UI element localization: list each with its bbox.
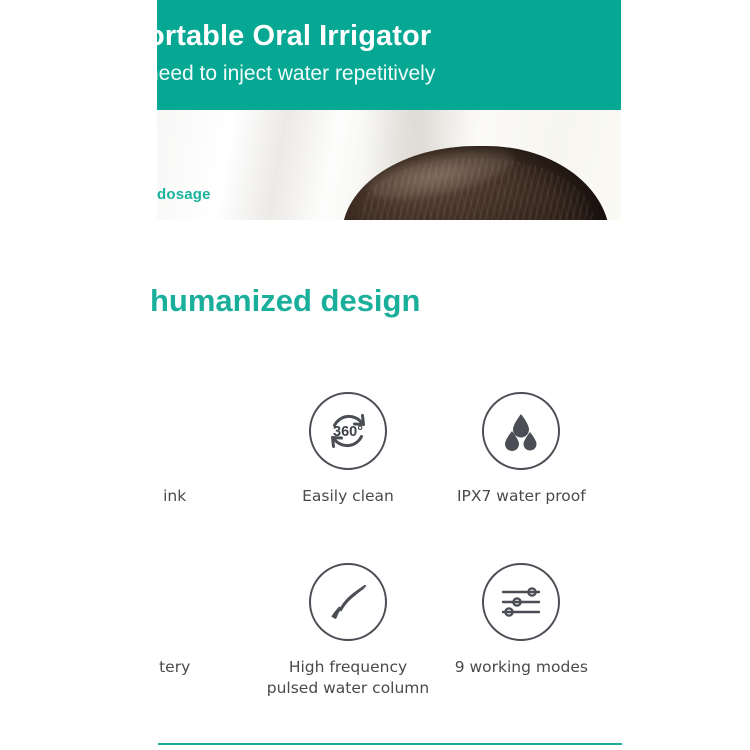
sliders-icon bbox=[482, 563, 560, 641]
feature-label-working-modes: 9 working modes bbox=[455, 657, 588, 678]
feature-label-pulsed-water: High frequency pulsed water column bbox=[261, 657, 434, 699]
feature-row-1: ink 360° Easily clean bbox=[88, 392, 608, 507]
rotate-360-icon-text: 360° bbox=[333, 424, 363, 440]
bottom-divider bbox=[158, 743, 622, 745]
feature-item-working-modes: 9 working modes bbox=[435, 563, 608, 699]
section-heading: humanized design bbox=[150, 283, 420, 319]
hero-title: ortable Oral Irrigator bbox=[157, 20, 621, 53]
feature-row-gap bbox=[88, 507, 608, 563]
feature-item-easily-clean: 360° Easily clean bbox=[261, 392, 434, 507]
hero-photo: dosage bbox=[157, 110, 621, 220]
feature-label-waterproof: IPX7 water proof bbox=[457, 486, 586, 507]
feature-item-battery: tery bbox=[88, 563, 261, 699]
photo-caption: dosage bbox=[157, 186, 211, 203]
hero-banner: ortable Oral Irrigator need to inject wa… bbox=[157, 0, 621, 110]
feature-item-water-tank: ink bbox=[88, 392, 261, 507]
feature-item-waterproof: IPX7 water proof bbox=[435, 392, 608, 507]
feature-label-water-tank: ink bbox=[163, 486, 186, 507]
water-drops-icon bbox=[482, 392, 560, 470]
feature-grid: ink 360° Easily clean bbox=[88, 392, 608, 699]
rotate-360-icon: 360° bbox=[309, 392, 387, 470]
water-jet-nozzle-icon bbox=[309, 563, 387, 641]
person-head-graphic bbox=[342, 140, 621, 220]
feature-item-pulsed-water: High frequency pulsed water column bbox=[261, 563, 434, 699]
feature-label-easily-clean: Easily clean bbox=[302, 486, 394, 507]
feature-label-battery: tery bbox=[159, 657, 190, 678]
product-detail-page: ortable Oral Irrigator need to inject wa… bbox=[0, 0, 750, 750]
feature-row-2: tery High frequency pulsed water column bbox=[88, 563, 608, 699]
hero-subtitle: need to inject water repetitively bbox=[157, 62, 621, 86]
